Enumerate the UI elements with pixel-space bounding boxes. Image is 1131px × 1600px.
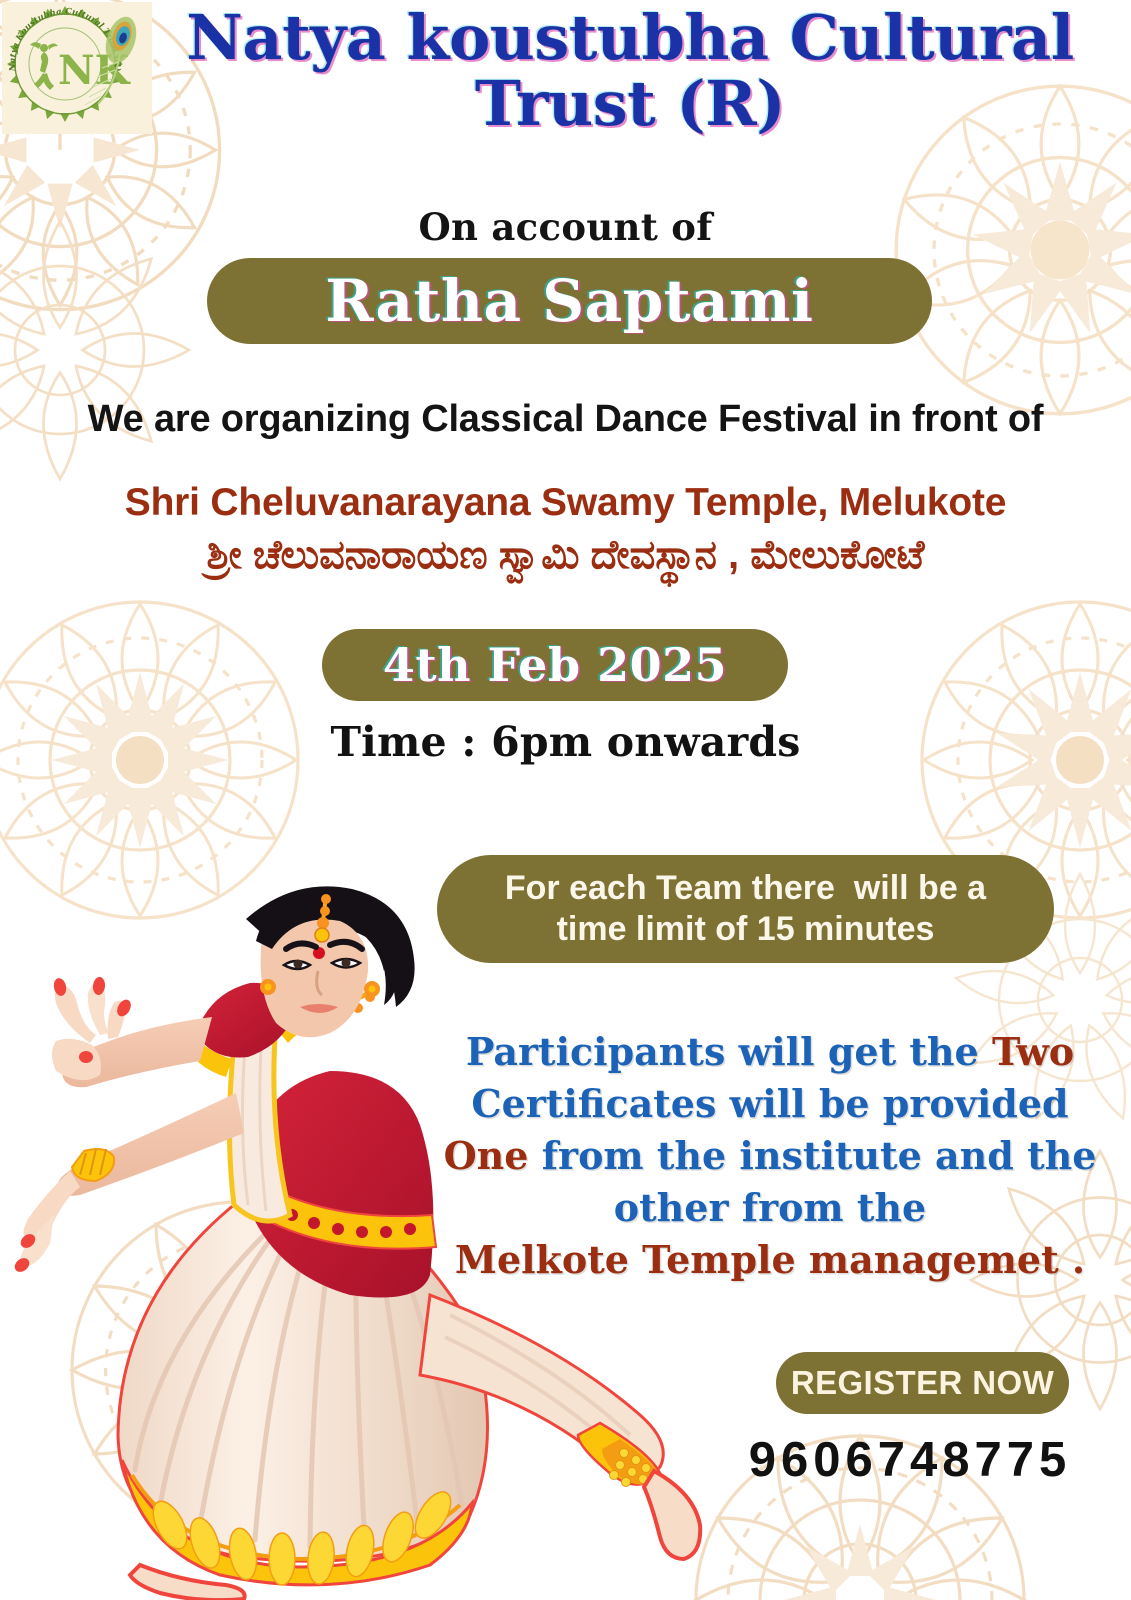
dancer-resting-foot bbox=[130, 1565, 245, 1600]
mandala-icon bbox=[640, 1400, 1080, 1600]
event-date-pill: 4th Feb 2025 bbox=[322, 629, 788, 701]
time-limit-text: For each Team there will be a time limit… bbox=[505, 868, 986, 951]
occasion-prefix-label: On account of bbox=[0, 205, 1131, 249]
dancer-lower-arm bbox=[12, 1093, 244, 1275]
title-line-2: Trust (R) bbox=[150, 74, 1110, 134]
event-poster: Natya Koustubha Cultural Trust (R) NK bbox=[0, 0, 1131, 1600]
dancer-mudra-hand-upper bbox=[52, 976, 134, 1080]
dancer-head bbox=[246, 886, 415, 1037]
dancer-skirt bbox=[118, 1193, 488, 1585]
venue-kannada: ಶ್ರೀ ಚೆಲುವನಾರಾಯಣ ಸ್ವಾಮಿ ದೇವಸ್ಥಾನ , ಮೇಲುಕ… bbox=[0, 533, 1131, 578]
certificates-line-2: Certificates will be provided bbox=[440, 1078, 1100, 1130]
dancer-eyes bbox=[284, 959, 360, 970]
certificates-line-1-blue: Participants will get the bbox=[466, 1029, 992, 1074]
dancer-torso bbox=[186, 983, 436, 1298]
certificates-note: Participants will get the Two Certificat… bbox=[440, 1026, 1100, 1286]
certificates-line-4: other from the bbox=[440, 1182, 1100, 1234]
dancer-maang-tikka bbox=[315, 894, 331, 942]
occasion-name-pill: Ratha Saptami bbox=[207, 258, 932, 344]
poster-title: Natya koustubha Cultural Trust (R) bbox=[150, 8, 1110, 134]
contact-phone-number[interactable]: 9606748775 bbox=[700, 1432, 1120, 1488]
certificates-line-1-red: Two bbox=[992, 1029, 1074, 1074]
dancer-necklace bbox=[284, 983, 378, 1020]
organizing-line: We are organizing Classical Dance Festiv… bbox=[0, 398, 1131, 441]
register-now-button[interactable]: REGISTER NOW bbox=[776, 1352, 1069, 1414]
certificates-line-3: One from the institute and the bbox=[440, 1130, 1100, 1182]
certificates-line-1: Participants will get the Two bbox=[440, 1026, 1100, 1078]
event-date-text: 4th Feb 2025 bbox=[383, 638, 727, 692]
dancer-extended-leg bbox=[420, 1295, 700, 1559]
natya-koustubha-trust-logo: Natya Koustubha Cultural Trust (R) NK bbox=[2, 2, 152, 134]
title-line-1: Natya koustubha Cultural bbox=[150, 8, 1110, 68]
mandala-icon bbox=[30, 1160, 450, 1580]
dancer-mudra-hand-lower bbox=[12, 1171, 80, 1275]
certificates-line-3-red: One bbox=[444, 1133, 529, 1178]
certificates-line-5: Melkote Temple managemet . bbox=[440, 1234, 1100, 1286]
time-limit-pill: For each Team there will be a time limit… bbox=[437, 855, 1054, 963]
event-time: Time : 6pm onwards bbox=[0, 718, 1131, 766]
dancer-earrings bbox=[260, 979, 380, 997]
occasion-name-text: Ratha Saptami bbox=[325, 267, 813, 335]
register-now-label: REGISTER NOW bbox=[791, 1364, 1054, 1402]
venue-english: Shri Cheluvanarayana Swamy Temple, Meluk… bbox=[0, 481, 1131, 525]
certificates-line-3-blue: from the institute and the bbox=[528, 1133, 1096, 1178]
dancer-bindi bbox=[313, 947, 325, 959]
dancer-upper-arm bbox=[52, 976, 212, 1087]
